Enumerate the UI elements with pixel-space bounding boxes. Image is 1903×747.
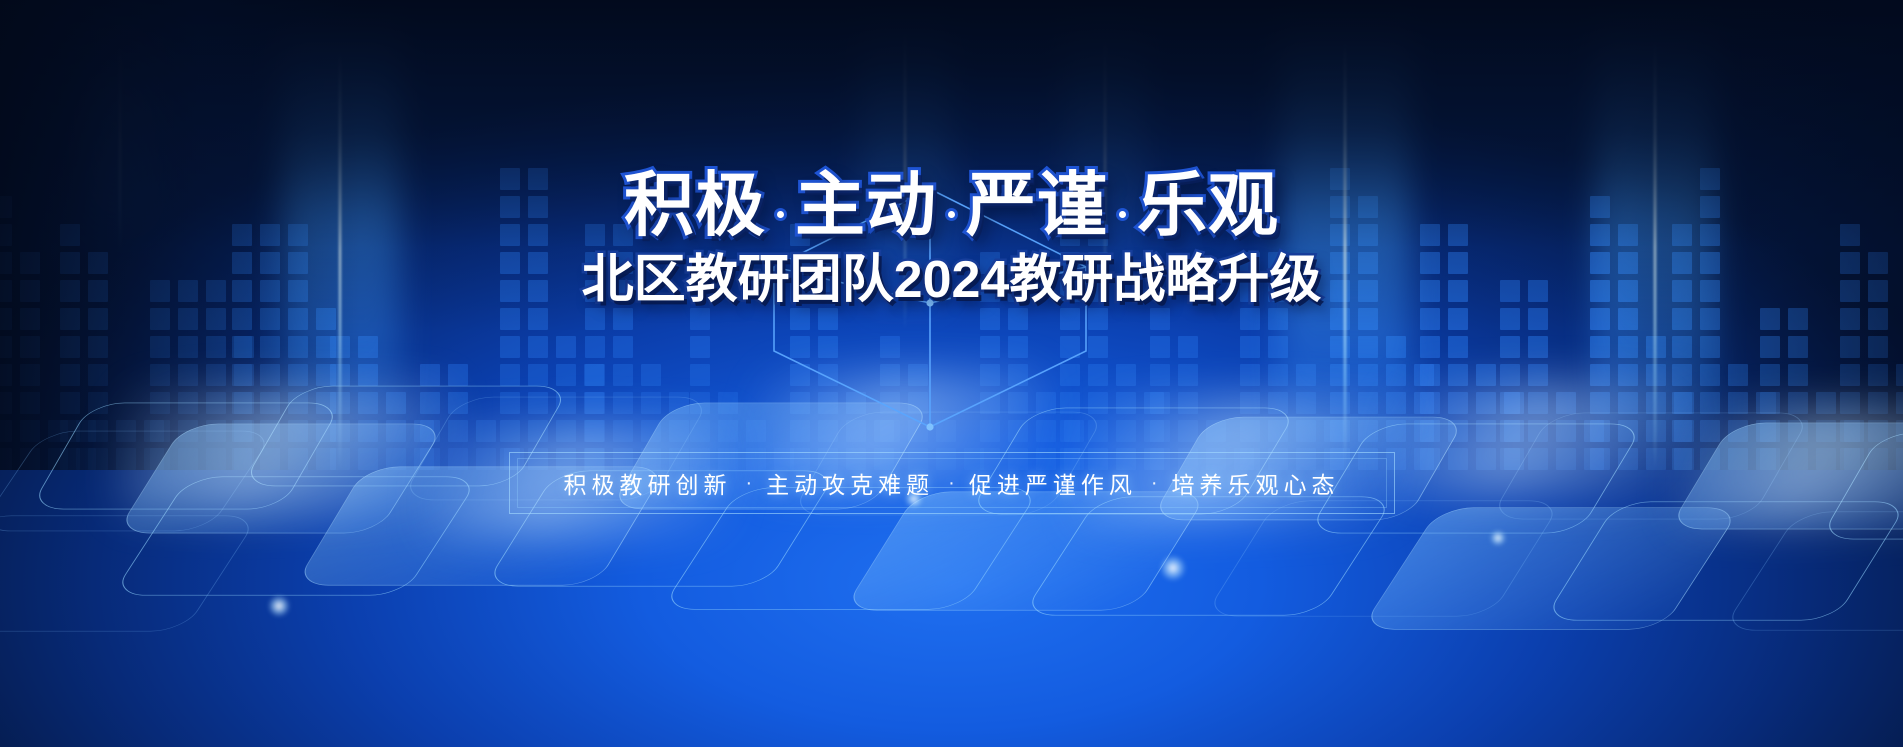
title-separator-dot-2 — [948, 211, 955, 218]
main-title-word-4: 乐观 — [1135, 170, 1281, 240]
tagline-item-1: 积极教研创新 — [563, 466, 731, 500]
tagline-separator-1: · — [745, 472, 752, 495]
main-title: 积极 主动 严谨 乐观 — [622, 170, 1281, 240]
tagline-separator-2: · — [948, 472, 955, 495]
banner-canvas: 积极 主动 严谨 乐观 北区教研团队2024教研战略升级 积极教研创新 · 主动… — [0, 0, 1903, 747]
sub-title: 北区教研团队2024教研战略升级 — [582, 254, 1322, 306]
tagline-item-2: 主动攻克难题 — [766, 466, 934, 500]
title-separator-dot-3 — [1119, 211, 1126, 218]
tagline-separator-3: · — [1151, 472, 1158, 495]
text-block: 积极 主动 严谨 乐观 北区教研团队2024教研战略升级 — [0, 0, 1903, 747]
tagline-item-3: 促进严谨作风 — [969, 466, 1137, 500]
main-title-word-1: 积极 — [622, 170, 768, 240]
title-separator-dot-1 — [777, 211, 784, 218]
main-title-word-3: 严谨 — [964, 170, 1110, 240]
main-title-word-2: 主动 — [793, 170, 939, 240]
tagline-container: 积极教研创新 · 主动攻克难题 · 促进严谨作风 · 培养乐观心态 — [509, 452, 1395, 514]
tagline-text: 积极教研创新 · 主动攻克难题 · 促进严谨作风 · 培养乐观心态 — [509, 452, 1395, 514]
tagline-item-4: 培养乐观心态 — [1172, 466, 1340, 500]
